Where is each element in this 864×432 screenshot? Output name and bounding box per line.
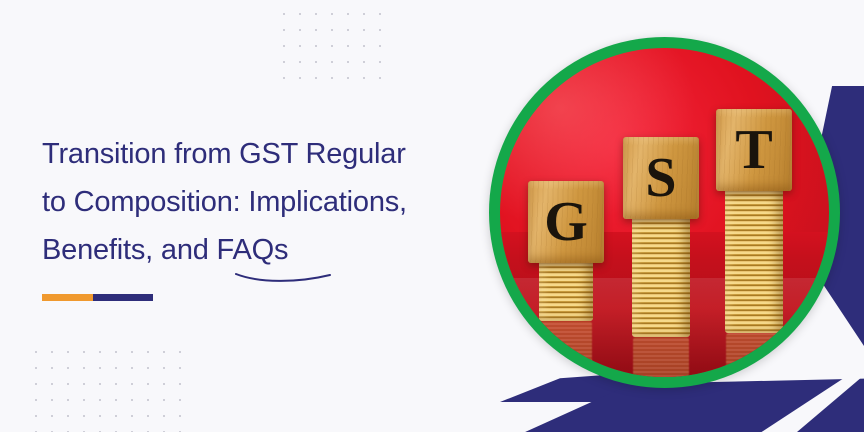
accent-bar-navy-segment (93, 294, 153, 301)
gst-photo-circle: G S T (489, 37, 840, 388)
coins-g (539, 259, 593, 321)
block-letter-g: G (544, 194, 588, 250)
article-banner: G S T Transition from GST Regular to Co (0, 0, 864, 432)
coin-stack-t: T (710, 48, 798, 333)
page-title-line-3: Benefits, and FAQs (42, 226, 492, 274)
page-title-line-1: Transition from GST Regular (42, 130, 492, 178)
accent-bar-orange-segment (42, 294, 93, 301)
accent-bar (42, 294, 153, 301)
dot-grid-top-decoration (276, 6, 392, 80)
coins-s (632, 215, 690, 337)
wooden-block-g: G (528, 181, 604, 263)
wooden-block-s: S (623, 137, 699, 219)
coin-reflection-g (540, 321, 592, 373)
coins-t (725, 187, 783, 333)
dot-grid-bottom-decoration (28, 344, 184, 432)
page-title: Transition from GST Regular to Compositi… (42, 130, 492, 274)
block-letter-t: T (735, 122, 772, 178)
coin-reflection-t (726, 333, 782, 377)
gst-photo-image: G S T (500, 48, 829, 377)
wooden-block-t: T (716, 109, 792, 191)
coin-stack-s: S (618, 79, 704, 337)
page-title-line-2: to Composition: Implications, (42, 178, 492, 226)
coin-reflection-s (633, 337, 689, 377)
block-letter-s: S (645, 150, 676, 206)
coin-stack-g: G (524, 121, 608, 321)
